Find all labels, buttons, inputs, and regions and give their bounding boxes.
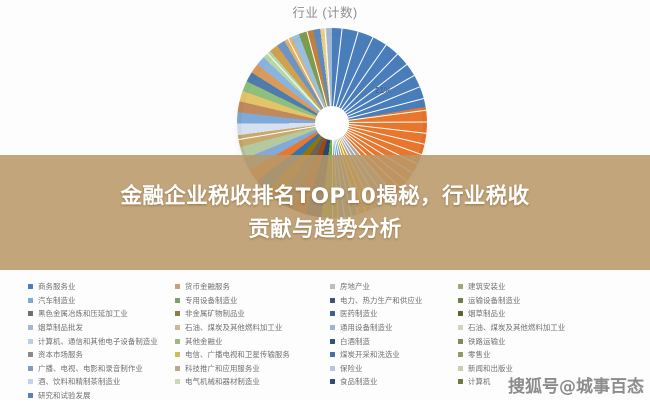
legend-item[interactable]: 新闻和出版业 (458, 362, 650, 376)
chart-title: 行业 (计数) (0, 2, 650, 21)
legend-swatch-icon (28, 352, 33, 357)
legend-item[interactable]: 计算机 (458, 375, 650, 389)
headline-text: 金融企业税收排名TOP10揭秘，行业税收 贡献与趋势分析 (120, 180, 529, 246)
legend-swatch-icon (28, 298, 33, 303)
legend-item[interactable]: 货币金融服务 (175, 280, 327, 294)
legend-item[interactable]: 建筑安装业 (458, 280, 650, 294)
legend-swatch-icon (458, 379, 463, 384)
legend-swatch-icon (175, 379, 180, 384)
legend-column-1: 商务服务业汽车制造业黑色金属冶炼和压延加工业烟草制品批发计算机、通信和其他电子设… (0, 276, 172, 400)
legend-swatch-icon (28, 339, 33, 344)
legend-swatch-icon (28, 284, 33, 289)
legend-swatch-icon (175, 325, 180, 330)
legend-item[interactable]: 非金属矿物制品业 (175, 307, 327, 321)
legend-swatch-icon (28, 366, 33, 371)
legend-item[interactable]: 食品制造业 (330, 375, 455, 389)
legend-item-label: 电信、广播电视和卫星传输服务 (185, 349, 290, 360)
headline-line-1: 金融企业税收排名TOP10揭秘，行业税收 (120, 180, 529, 213)
legend-item[interactable]: 石油、煤炭及其他燃料加工业 (458, 321, 650, 335)
legend-swatch-icon (330, 352, 335, 357)
legend-item-label: 医药制造业 (340, 308, 377, 319)
legend-item[interactable]: 广播、电视、电影和录音制作业 (28, 362, 172, 376)
legend-swatch-icon (458, 311, 463, 316)
legend-item-label: 白酒制造 (340, 336, 370, 347)
legend-swatch-icon (28, 393, 33, 398)
legend-item[interactable]: 铁路运输业 (458, 334, 650, 348)
legend-swatch-icon (458, 325, 463, 330)
legend-swatch-icon (330, 366, 335, 371)
legend-swatch-icon (458, 298, 463, 303)
legend-item[interactable]: 汽车制造业 (28, 294, 172, 308)
legend-swatch-icon (458, 366, 463, 371)
pie-donut-hole (315, 106, 349, 140)
legend-item[interactable]: 烟草制品批发 (28, 321, 172, 335)
legend-swatch-icon (458, 339, 463, 344)
legend-swatch-icon (458, 352, 463, 357)
legend-item-label: 广播、电视、电影和录音制作业 (38, 363, 143, 374)
legend-item[interactable]: 酒、饮料和精制茶制造业 (28, 375, 172, 389)
legend-column-2: 货币金融服务专用设备制造业非金属矿物制品业石油、煤炭及其他燃料加工业其他金融业电… (172, 276, 327, 400)
legend-column-4: 建筑安装业运输设备制造业烟草制品业石油、煤炭及其他燃料加工业铁路运输业零售业新闻… (455, 276, 650, 400)
legend-item-label: 烟草制品批发 (38, 322, 83, 333)
legend-item-label: 科技推广和应用服务业 (185, 363, 260, 374)
legend-item[interactable]: 通用设备制造业 (330, 321, 455, 335)
legend-swatch-icon (330, 379, 335, 384)
legend-item[interactable]: 白酒制造 (330, 334, 455, 348)
legend-item-label: 商务服务业 (38, 281, 75, 292)
legend-item[interactable]: 运输设备制造业 (458, 294, 650, 308)
pie-label-primary: 21% (375, 86, 391, 95)
legend-swatch-icon (175, 298, 180, 303)
legend-item[interactable]: 房地产业 (330, 280, 455, 294)
legend-item-label: 专用设备制造业 (185, 295, 237, 306)
legend-swatch-icon (458, 284, 463, 289)
legend-item-label: 汽车制造业 (38, 295, 75, 306)
legend-item[interactable]: 保险业 (330, 362, 455, 376)
legend-item-label: 铁路运输业 (468, 336, 505, 347)
legend-item[interactable]: 烟草制品业 (458, 307, 650, 321)
legend-item-label: 计算机、通信和其他电子设备制造业 (38, 336, 158, 347)
legend-swatch-icon (330, 325, 335, 330)
legend-column-3: 房地产业电力、热力生产和供应业医药制造业通用设备制造业白酒制造煤炭开采和洗选业保… (327, 276, 455, 400)
legend-item[interactable]: 计算机、通信和其他电子设备制造业 (28, 334, 172, 348)
legend-item[interactable]: 研究和试验发展 (28, 389, 172, 402)
legend-item-label: 计算机 (468, 376, 490, 387)
legend-item[interactable]: 黑色金属冶炼和压延加工业 (28, 307, 172, 321)
legend-item[interactable]: 其他金融业 (175, 334, 327, 348)
legend-item-label: 煤炭开采和洗选业 (340, 349, 400, 360)
legend-item-label: 货币金融服务 (185, 281, 230, 292)
legend-item-label: 其他金融业 (185, 336, 222, 347)
screenshot-stage: 行业 (计数) 21% 15% 4% 金融企业税收排名TOP10揭秘，行业税收 … (0, 0, 650, 400)
legend-item[interactable]: 电力、热力生产和供应业 (330, 294, 455, 308)
legend-item-label: 新闻和出版业 (468, 363, 513, 374)
legend-swatch-icon (175, 284, 180, 289)
legend-item-label: 食品制造业 (340, 376, 377, 387)
legend-item-label: 电力、热力生产和供应业 (340, 295, 422, 306)
legend-item[interactable]: 资本市场服务 (28, 348, 172, 362)
legend-swatch-icon (28, 311, 33, 316)
legend-swatch-icon (330, 311, 335, 316)
legend-item-label: 石油、煤炭及其他燃料加工业 (185, 322, 282, 333)
legend-item-label: 零售业 (468, 349, 490, 360)
legend-item-label: 保险业 (340, 363, 362, 374)
legend-item[interactable]: 专用设备制造业 (175, 294, 327, 308)
legend-swatch-icon (28, 325, 33, 330)
legend-item[interactable]: 商务服务业 (28, 280, 172, 294)
legend-swatch-icon (175, 339, 180, 344)
legend-swatch-icon (330, 339, 335, 344)
legend-item-label: 资本市场服务 (38, 349, 83, 360)
legend-item-label: 非金属矿物制品业 (185, 308, 245, 319)
headline-line-2: 贡献与趋势分析 (120, 213, 529, 246)
legend-swatch-icon (175, 366, 180, 371)
headline-banner: 金融企业税收排名TOP10揭秘，行业税收 贡献与趋势分析 (0, 155, 650, 270)
legend-item[interactable]: 电信、广播电视和卫星传输服务 (175, 348, 327, 362)
legend-item-label: 黑色金属冶炼和压延加工业 (38, 308, 128, 319)
legend-swatch-icon (330, 298, 335, 303)
legend-item[interactable]: 医药制造业 (330, 307, 455, 321)
legend-item-label: 通用设备制造业 (340, 322, 392, 333)
legend-item[interactable]: 科技推广和应用服务业 (175, 362, 327, 376)
legend-item-label: 酒、饮料和精制茶制造业 (38, 376, 120, 387)
legend-item-label: 烟草制品业 (468, 308, 505, 319)
legend-item-label: 房地产业 (340, 281, 370, 292)
legend-item-label: 电气机械和器材制造业 (185, 376, 260, 387)
legend-item[interactable]: 电气机械和器材制造业 (175, 375, 327, 389)
legend-swatch-icon (175, 311, 180, 316)
chart-legend: 商务服务业汽车制造业黑色金属冶炼和压延加工业烟草制品批发计算机、通信和其他电子设… (0, 276, 650, 400)
legend-swatch-icon (175, 352, 180, 357)
legend-item[interactable]: 零售业 (458, 348, 650, 362)
legend-item-label: 建筑安装业 (468, 281, 505, 292)
legend-item[interactable]: 石油、煤炭及其他燃料加工业 (175, 321, 327, 335)
legend-item-label: 石油、煤炭及其他燃料加工业 (468, 322, 565, 333)
legend-item[interactable]: 煤炭开采和洗选业 (330, 348, 455, 362)
legend-swatch-icon (28, 379, 33, 384)
legend-item-label: 研究和试验发展 (38, 390, 90, 401)
legend-item-label: 运输设备制造业 (468, 295, 520, 306)
legend-swatch-icon (330, 284, 335, 289)
